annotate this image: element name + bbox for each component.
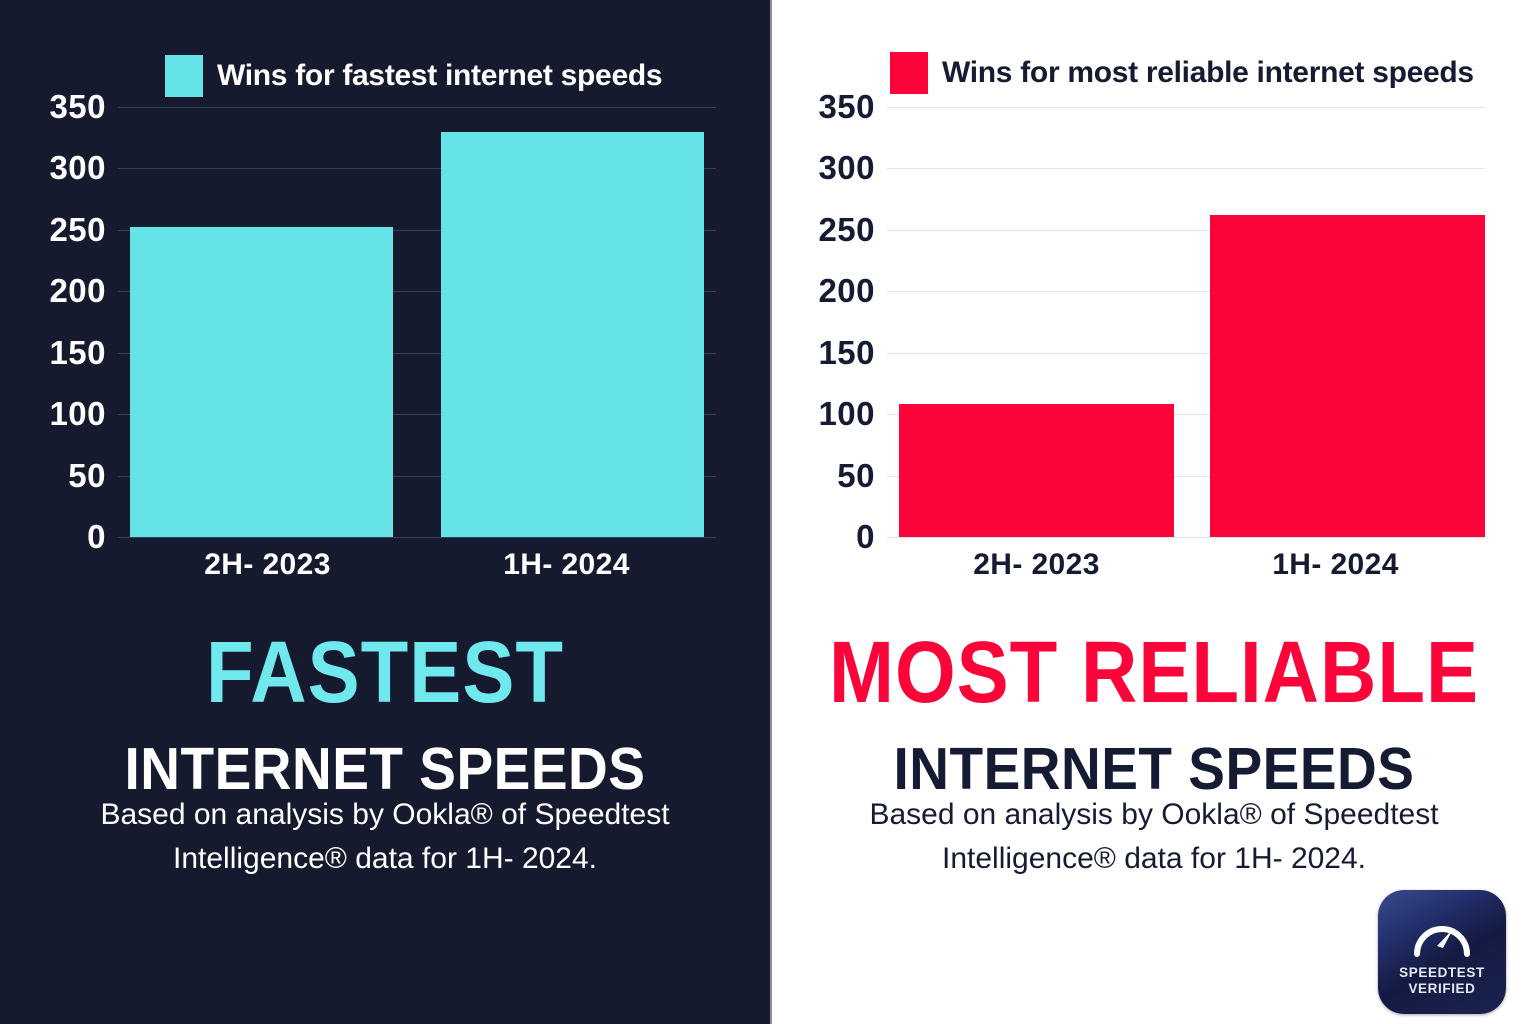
panel-fastest: Wins for fastest internet speeds 350 300… bbox=[0, 0, 770, 1024]
gridline-350 bbox=[118, 107, 716, 108]
panel-most-reliable: Wins for most reliable internet speeds 3… bbox=[770, 0, 1536, 1024]
y-tick-100: 100 bbox=[818, 395, 875, 433]
badge-line-1: SPEEDTEST bbox=[1399, 965, 1485, 981]
x-axis-fastest: 2H- 2023 1H- 2024 bbox=[118, 548, 716, 582]
y-tick-150: 150 bbox=[818, 334, 875, 372]
headline-main-text: FASTEST bbox=[0, 628, 770, 717]
y-tick-100: 100 bbox=[49, 395, 106, 433]
bar-2h-2023[interactable] bbox=[130, 227, 393, 537]
caption-line-2: Intelligence® data for 1H- 2024. bbox=[0, 837, 770, 881]
x-axis-most-reliable: 2H- 2023 1H- 2024 bbox=[887, 548, 1485, 582]
y-tick-300: 300 bbox=[49, 149, 106, 187]
y-tick-250: 250 bbox=[49, 211, 106, 249]
y-tick-350: 350 bbox=[818, 88, 875, 126]
caption-most-reliable: Based on analysis by Ookla® of Speedtest… bbox=[772, 793, 1536, 880]
x-label-2h-2023: 2H- 2023 bbox=[887, 548, 1186, 582]
y-tick-200: 200 bbox=[818, 272, 875, 310]
bar-2h-2023[interactable] bbox=[899, 404, 1174, 537]
y-tick-0: 0 bbox=[856, 518, 875, 556]
chart-fastest-internet-speeds: 350 300 250 200 150 100 50 0 bbox=[18, 90, 738, 590]
y-axis-fastest: 350 300 250 200 150 100 50 0 bbox=[18, 107, 106, 537]
y-tick-150: 150 bbox=[49, 334, 106, 372]
plot-area-fastest bbox=[118, 107, 716, 537]
y-tick-300: 300 bbox=[818, 149, 875, 187]
legend-most-reliable: Wins for most reliable internet speeds bbox=[890, 52, 1474, 94]
legend-label: Wins for most reliable internet speeds bbox=[942, 56, 1474, 90]
x-label-2h-2023: 2H- 2023 bbox=[118, 548, 417, 582]
y-tick-0: 0 bbox=[87, 518, 106, 556]
bar-1h-2024[interactable] bbox=[1210, 215, 1485, 537]
headline-main-text: MOST RELIABLE bbox=[772, 628, 1536, 717]
y-tick-250: 250 bbox=[818, 211, 875, 249]
speedometer-gauge-icon bbox=[1411, 912, 1473, 958]
headline-fastest: FASTEST INTERNET SPEEDS bbox=[0, 628, 770, 798]
infographic-root: Wins for fastest internet speeds 350 300… bbox=[0, 0, 1536, 1024]
plot-area-most-reliable bbox=[887, 107, 1485, 537]
y-tick-50: 50 bbox=[68, 457, 106, 495]
badge-line-2: VERIFIED bbox=[1399, 981, 1485, 997]
x-label-1h-2024: 1H- 2024 bbox=[1186, 548, 1485, 582]
caption-line-1: Based on analysis by Ookla® of Speedtest bbox=[772, 793, 1536, 837]
legend-label: Wins for fastest internet speeds bbox=[217, 59, 662, 93]
bar-1h-2024[interactable] bbox=[441, 132, 704, 537]
caption-line-1: Based on analysis by Ookla® of Speedtest bbox=[0, 793, 770, 837]
caption-fastest: Based on analysis by Ookla® of Speedtest… bbox=[0, 793, 770, 880]
legend-swatch-icon bbox=[890, 52, 928, 94]
gridline-300 bbox=[887, 168, 1485, 169]
gridline-0 bbox=[118, 537, 716, 538]
y-tick-350: 350 bbox=[49, 88, 106, 126]
x-label-1h-2024: 1H- 2024 bbox=[417, 548, 716, 582]
chart-most-reliable-internet-speeds: 350 300 250 200 150 100 50 0 bbox=[787, 90, 1507, 590]
headline-most-reliable: MOST RELIABLE INTERNET SPEEDS bbox=[772, 628, 1536, 798]
speedtest-verified-badge: SPEEDTEST VERIFIED bbox=[1378, 890, 1506, 1014]
caption-line-2: Intelligence® data for 1H- 2024. bbox=[772, 837, 1536, 881]
y-tick-200: 200 bbox=[49, 272, 106, 310]
y-axis-most-reliable: 350 300 250 200 150 100 50 0 bbox=[787, 107, 875, 537]
badge-text: SPEEDTEST VERIFIED bbox=[1399, 965, 1485, 997]
gridline-350 bbox=[887, 107, 1485, 108]
gridline-0 bbox=[887, 537, 1485, 538]
y-tick-50: 50 bbox=[837, 457, 875, 495]
